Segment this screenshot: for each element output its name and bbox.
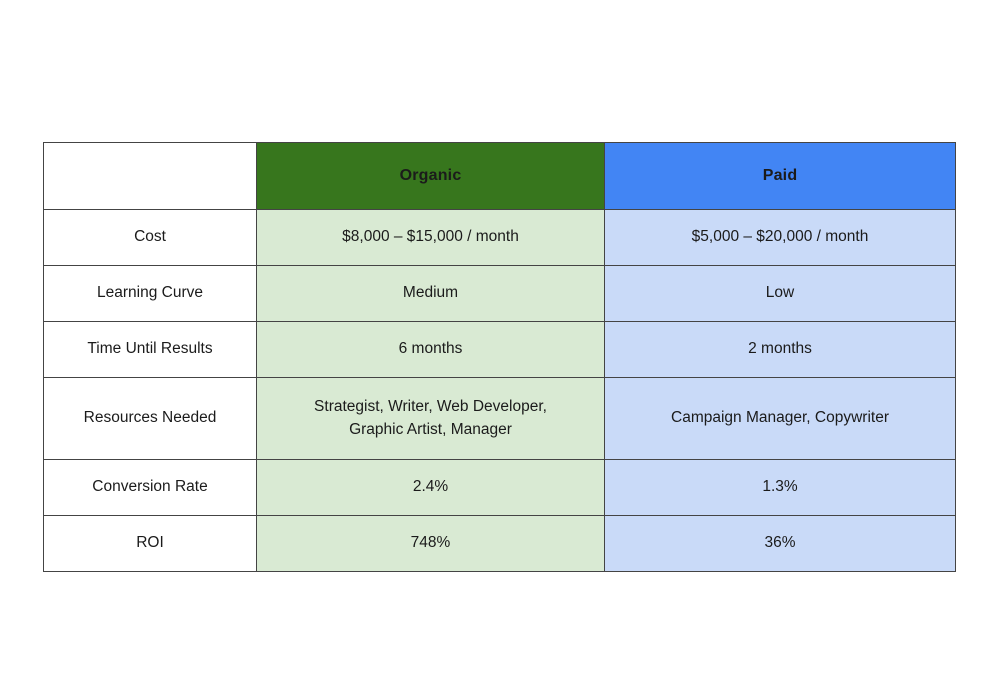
column-header-paid: Paid	[605, 143, 956, 210]
cell-organic-cost: $8,000 – $15,000 / month	[257, 210, 605, 266]
table-row: Cost $8,000 – $15,000 / month $5,000 – $…	[44, 210, 956, 266]
cell-organic-conversion-rate: 2.4%	[257, 460, 605, 516]
cell-organic-learning-curve: Medium	[257, 266, 605, 322]
table-row: Time Until Results 6 months 2 months	[44, 322, 956, 378]
cell-paid-learning-curve: Low	[605, 266, 956, 322]
page-root: Organic Paid Cost $8,000 – $15,000 / mon…	[0, 0, 990, 700]
row-label-conversion-rate: Conversion Rate	[44, 460, 257, 516]
cell-paid-cost: $5,000 – $20,000 / month	[605, 210, 956, 266]
table-header-row: Organic Paid	[44, 143, 956, 210]
table-row: Learning Curve Medium Low	[44, 266, 956, 322]
row-label-cost: Cost	[44, 210, 257, 266]
table-row: Conversion Rate 2.4% 1.3%	[44, 460, 956, 516]
column-header-blank	[44, 143, 257, 210]
table-row: Resources Needed Strategist, Writer, Web…	[44, 378, 956, 460]
cell-organic-time-until-results: 6 months	[257, 322, 605, 378]
cell-organic-resources-needed: Strategist, Writer, Web Developer, Graph…	[257, 378, 605, 460]
row-label-learning-curve: Learning Curve	[44, 266, 257, 322]
cell-paid-conversion-rate: 1.3%	[605, 460, 956, 516]
row-label-time-until-results: Time Until Results	[44, 322, 257, 378]
cell-organic-roi: 748%	[257, 516, 605, 572]
organic-vs-paid-comparison-table: Organic Paid Cost $8,000 – $15,000 / mon…	[43, 142, 956, 572]
cell-organic-resources-line-1: Strategist, Writer, Web Developer,	[314, 398, 547, 415]
cell-paid-time-until-results: 2 months	[605, 322, 956, 378]
column-header-organic: Organic	[257, 143, 605, 210]
table-header: Organic Paid	[44, 143, 956, 210]
table-row: ROI 748% 36%	[44, 516, 956, 572]
cell-organic-resources-line-2: Graphic Artist, Manager	[349, 421, 512, 438]
cell-paid-roi: 36%	[605, 516, 956, 572]
row-label-resources-needed: Resources Needed	[44, 378, 257, 460]
cell-paid-resources-needed: Campaign Manager, Copywriter	[605, 378, 956, 460]
table-body: Cost $8,000 – $15,000 / month $5,000 – $…	[44, 210, 956, 572]
row-label-roi: ROI	[44, 516, 257, 572]
